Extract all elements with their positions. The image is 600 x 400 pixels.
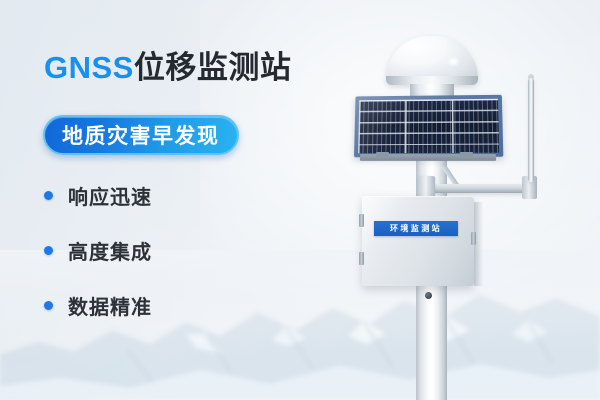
whip-antenna	[528, 78, 534, 182]
enclosure-latch-right	[471, 232, 476, 245]
title-subject: 位移监测站	[134, 50, 292, 85]
list-item: 数据精准	[44, 292, 152, 318]
list-item: 响应迅速	[44, 182, 152, 208]
banner-stage: GNSS位移监测站 地质灾害早发现 响应迅速 高度集成 数据精准	[0, 0, 600, 400]
bullet-dot-icon	[44, 191, 53, 200]
horizontal-cross-arm	[426, 184, 534, 193]
dome-specular-highlight	[449, 58, 458, 65]
enclosure-latch-left-top	[359, 214, 364, 227]
feature-label: 高度集成	[68, 236, 152, 265]
list-item: 高度集成	[44, 237, 152, 263]
solar-panel-bracket-left	[376, 152, 389, 158]
solar-panel	[354, 95, 503, 157]
bullet-dot-icon	[44, 246, 53, 255]
solar-panel-cells	[358, 99, 499, 153]
monitoring-station-device: 环境监测站	[330, 0, 600, 400]
status-badge: 地质灾害早发现	[43, 115, 239, 155]
copy-block: GNSS位移监测站 地质灾害早发现 响应迅速 高度集成 数据精准	[0, 0, 340, 400]
bullet-dot-icon	[44, 301, 53, 310]
mast-bolt	[425, 292, 432, 299]
feature-label: 数据精准	[68, 291, 152, 320]
title-brand: GNSS	[44, 50, 134, 85]
solar-panel-bracket-right	[460, 152, 473, 158]
feature-label: 响应迅速	[68, 181, 152, 210]
feature-list: 响应迅速 高度集成 数据精准	[44, 182, 152, 347]
enclosure-latch-left-bottom	[359, 252, 364, 265]
equipment-enclosure-box	[362, 196, 474, 286]
page-title: GNSS位移监测站	[44, 52, 291, 83]
enclosure-label: 环境监测站	[374, 221, 458, 236]
